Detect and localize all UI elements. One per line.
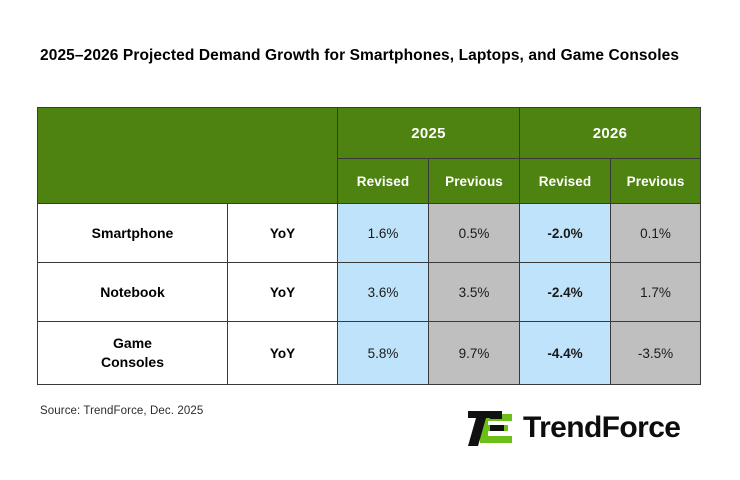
- table-header-row-years: 2025 2026: [38, 108, 701, 159]
- cell-smartphone-2025-revised: 1.6%: [338, 204, 429, 263]
- row-metric-game-consoles: YoY: [228, 322, 338, 385]
- cell-smartphone-2026-revised: -2.0%: [520, 204, 611, 263]
- row-label-game-consoles-line2: Consoles: [101, 354, 164, 370]
- row-metric-smartphone: YoY: [228, 204, 338, 263]
- trendforce-logo-mark: [466, 408, 514, 448]
- cell-game-consoles-2026-revised: -4.4%: [520, 322, 611, 385]
- row-label-notebook: Notebook: [38, 263, 228, 322]
- table-row: Game Consoles YoY 5.8% 9.7% -4.4% -3.5%: [38, 322, 701, 385]
- cell-notebook-2026-previous: 1.7%: [611, 263, 701, 322]
- header-corner-blank: [38, 108, 338, 204]
- source-note: Source: TrendForce, Dec. 2025: [40, 405, 203, 417]
- page-title: 2025–2026 Projected Demand Growth for Sm…: [40, 44, 688, 68]
- demand-growth-table: 2025 2026 Revised Previous Revised Previ…: [37, 107, 701, 385]
- cell-game-consoles-2025-revised: 5.8%: [338, 322, 429, 385]
- header-year-2026: 2026: [520, 108, 701, 159]
- cell-smartphone-2026-previous: 0.1%: [611, 204, 701, 263]
- demand-growth-table-wrapper: 2025 2026 Revised Previous Revised Previ…: [37, 107, 700, 385]
- table-head: 2025 2026 Revised Previous Revised Previ…: [38, 108, 701, 204]
- cell-notebook-2026-revised: -2.4%: [520, 263, 611, 322]
- header-year-2025: 2025: [338, 108, 520, 159]
- cell-game-consoles-2025-previous: 9.7%: [429, 322, 520, 385]
- row-label-game-consoles-line1: Game: [113, 335, 152, 351]
- header-2025-revised: Revised: [338, 159, 429, 204]
- cell-notebook-2025-revised: 3.6%: [338, 263, 429, 322]
- table-row: Notebook YoY 3.6% 3.5% -2.4% 1.7%: [38, 263, 701, 322]
- trendforce-logo-text: TrendForce: [523, 413, 680, 443]
- row-metric-notebook: YoY: [228, 263, 338, 322]
- header-2026-previous: Previous: [611, 159, 701, 204]
- cell-smartphone-2025-previous: 0.5%: [429, 204, 520, 263]
- table-row: Smartphone YoY 1.6% 0.5% -2.0% 0.1%: [38, 204, 701, 263]
- row-label-game-consoles: Game Consoles: [38, 322, 228, 385]
- cell-game-consoles-2026-previous: -3.5%: [611, 322, 701, 385]
- header-2026-revised: Revised: [520, 159, 611, 204]
- trendforce-logo: TrendForce: [466, 406, 680, 450]
- cell-notebook-2025-previous: 3.5%: [429, 263, 520, 322]
- header-2025-previous: Previous: [429, 159, 520, 204]
- slide-canvas: 2025–2026 Projected Demand Growth for Sm…: [0, 0, 740, 480]
- row-label-smartphone: Smartphone: [38, 204, 228, 263]
- table-body: Smartphone YoY 1.6% 0.5% -2.0% 0.1% Note…: [38, 204, 701, 385]
